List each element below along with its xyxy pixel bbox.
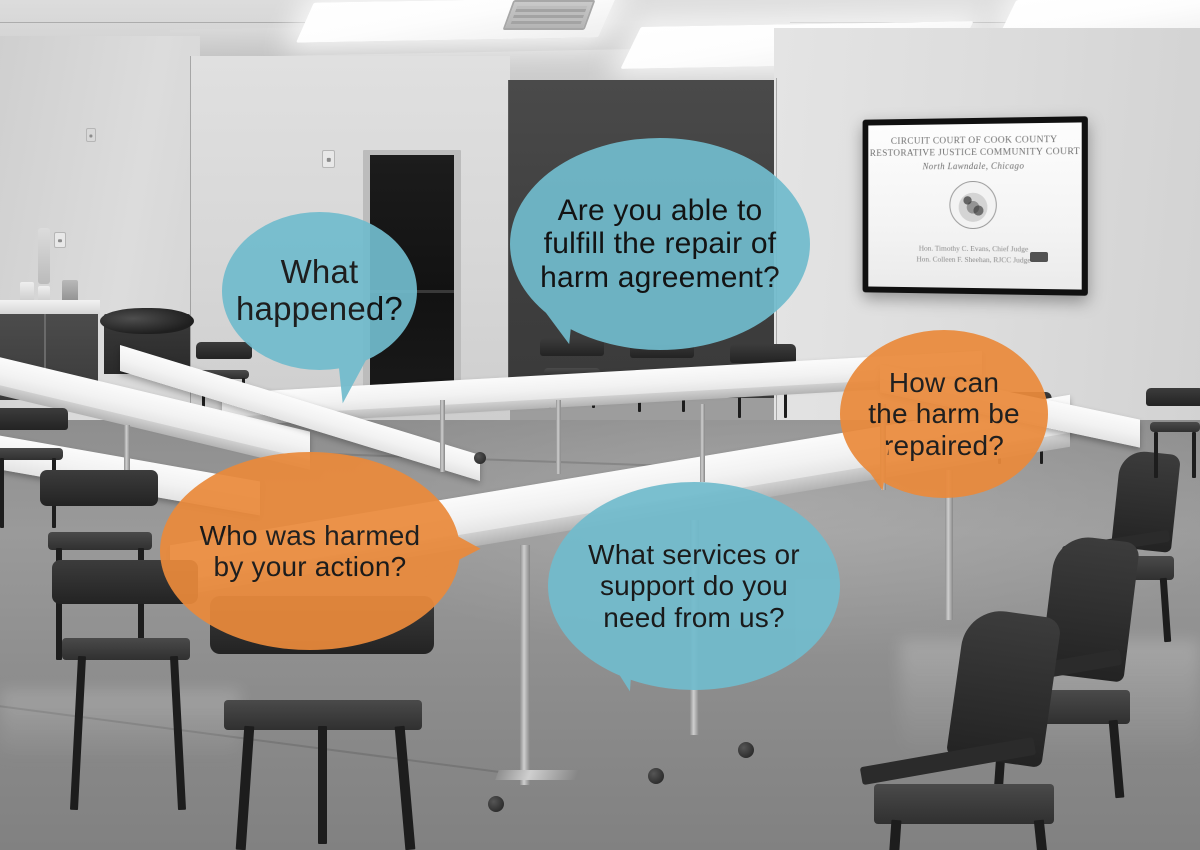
display-slide: CIRCUIT COURT OF COOK COUNTY RESTORATIVE… — [868, 122, 1081, 289]
table-caster — [474, 452, 486, 464]
wall-outlet-plate — [54, 232, 66, 248]
trash-bin-liner — [100, 308, 194, 334]
wall-mounted-display: CIRCUIT COURT OF COOK COUNTY RESTORATIVE… — [863, 116, 1088, 296]
bubble-text: Who was harmed by your action? — [190, 520, 431, 583]
bubble-tail — [843, 439, 889, 490]
bubble-tail — [525, 288, 574, 344]
table-leg — [495, 770, 579, 780]
chair — [1146, 388, 1200, 478]
slide-location: North Lawndale, Chicago — [923, 160, 1025, 172]
bubble-text: What services or support do you need fro… — [578, 539, 810, 633]
slide-judge-rjcc: Hon. Colleen F. Sheehan, RJCC Judge — [916, 254, 1030, 266]
ceiling-air-vent — [503, 0, 596, 30]
bubble-text: Are you able to fulfill the repair of ha… — [530, 194, 790, 295]
wall-dispenser — [38, 228, 50, 284]
image-canvas: CIRCUIT COURT OF COOK COUNTY RESTORATIVE… — [0, 0, 1200, 850]
slide-heading-program: RESTORATIVE JUSTICE COMMUNITY COURT — [870, 147, 1080, 161]
court-seal-icon — [949, 181, 996, 229]
bubble-tail — [425, 521, 483, 582]
speech-bubble-fulfill-agreement: Are you able to fulfill the repair of ha… — [510, 138, 810, 350]
table-caster — [738, 742, 754, 758]
table-caster — [648, 768, 664, 784]
speech-bubble-services-support: What services or support do you need fro… — [548, 482, 840, 690]
speech-bubble-what-happened: What happened? — [222, 212, 417, 370]
table-leg — [556, 400, 561, 474]
table-leg — [700, 404, 705, 482]
slide-judge-names: Hon. Timothy C. Evans, Chief Judge Hon. … — [916, 243, 1030, 266]
bubble-tail — [590, 631, 634, 692]
table-leg — [520, 545, 530, 785]
bubble-text: What happened? — [226, 254, 413, 328]
display-wall-mount — [1030, 252, 1048, 262]
speech-bubble-who-was-harmed: Who was harmed by your action? — [160, 452, 460, 650]
table-leg — [440, 400, 445, 472]
light-switch-plate[interactable] — [322, 150, 335, 168]
speech-bubble-repair-harm: How can the harm be repaired? — [840, 330, 1048, 498]
counter-top — [0, 300, 100, 314]
wall-sensor — [86, 128, 96, 142]
bubble-tail — [337, 351, 372, 404]
wall-corner — [508, 80, 509, 400]
armchair — [860, 612, 1090, 850]
table-caster — [488, 796, 504, 812]
